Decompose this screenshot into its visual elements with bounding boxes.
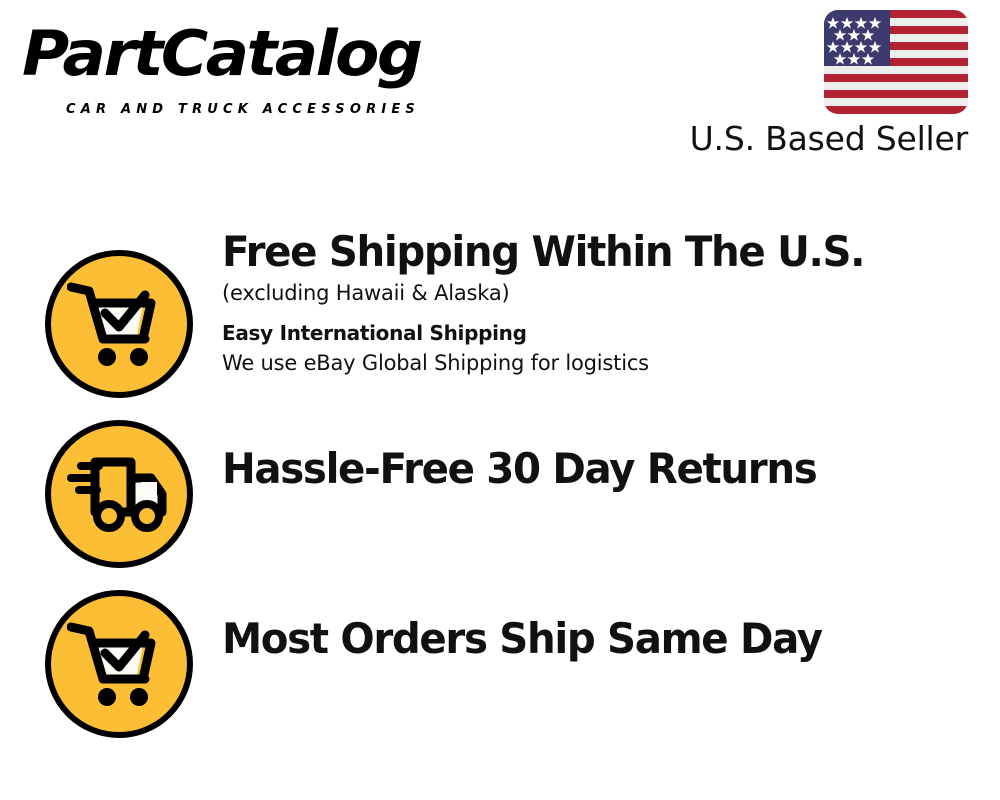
feature-subtitle: (excluding Hawaii & Alaska) bbox=[222, 278, 980, 308]
banner-header: PartCatalog CAR AND TRUCK ACCESSORIES bbox=[0, 0, 1000, 170]
us-based-seller-label: U.S. Based Seller bbox=[690, 118, 968, 160]
feature-list: Free Shipping Within The U.S. (excluding… bbox=[0, 226, 1000, 786]
feature-text-block: Hassle-Free 30 Day Returns bbox=[222, 443, 980, 495]
us-based-seller-badge: U.S. Based Seller bbox=[704, 8, 984, 158]
promo-banner: PartCatalog CAR AND TRUCK ACCESSORIES bbox=[0, 0, 1000, 800]
feature-row: Most Orders Ship Same Day bbox=[0, 571, 1000, 741]
shopping-cart-check-icon bbox=[45, 590, 193, 738]
feature-row: Hassle-Free 30 Day Returns bbox=[0, 401, 1000, 571]
feature-subtitle-strong: Easy International Shipping bbox=[222, 318, 980, 348]
brand-wordmark: PartCatalog bbox=[22, 18, 420, 90]
brand-logo: PartCatalog CAR AND TRUCK ACCESSORIES bbox=[22, 18, 492, 118]
feature-row: Free Shipping Within The U.S. (excluding… bbox=[0, 226, 1000, 401]
feature-title: Most Orders Ship Same Day bbox=[222, 613, 950, 665]
fast-delivery-truck-icon bbox=[45, 420, 193, 568]
us-flag-icon bbox=[824, 10, 968, 114]
shopping-cart-check-icon bbox=[45, 250, 193, 398]
feature-title: Hassle-Free 30 Day Returns bbox=[222, 443, 950, 495]
feature-text-block: Free Shipping Within The U.S. (excluding… bbox=[222, 226, 980, 378]
feature-text-block: Most Orders Ship Same Day bbox=[222, 613, 980, 665]
feature-subtitle-secondary: We use eBay Global Shipping for logistic… bbox=[222, 348, 980, 378]
feature-title: Free Shipping Within The U.S. bbox=[222, 226, 950, 278]
brand-tagline: CAR AND TRUCK ACCESSORIES bbox=[66, 102, 420, 118]
